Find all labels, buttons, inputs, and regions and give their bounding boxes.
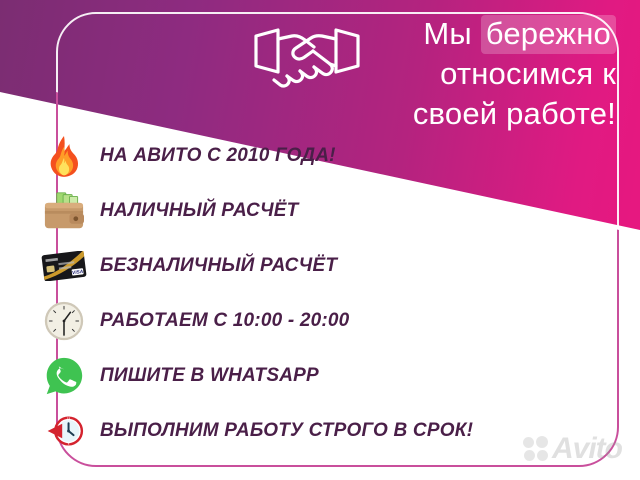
headline-highlight: бережно (481, 15, 616, 54)
feature-row: РАБОТАЕМ С 10:00 - 20:00 (36, 293, 566, 348)
feature-list: НА АВИТО С 2010 ГОДА! НАЛИЧНЫЙ РАСЧЁТ (36, 128, 566, 458)
feature-row: НА АВИТО С 2010 ГОДА! (36, 128, 566, 183)
deadline-timer-icon: 12 3 6 9 (36, 406, 92, 456)
feature-label: НА АВИТО С 2010 ГОДА! (92, 145, 336, 167)
headline-line-1: Мы бережно (348, 14, 616, 54)
handshake-icon (252, 26, 362, 98)
feature-label: ВЫПОЛНИМ РАБОТУ СТРОГО В СРОК! (92, 420, 473, 442)
feature-row: НАЛИЧНЫЙ РАСЧЁТ (36, 183, 566, 238)
feature-row: 12 3 6 9 ВЫПОЛНИМ РАБОТУ СТРОГО В СРОК! (36, 403, 566, 458)
feature-row: VISA БЕЗНАЛИЧНЫЙ РАСЧЁТ (36, 238, 566, 293)
clock-icon (36, 296, 92, 346)
feature-label: БЕЗНАЛИЧНЫЙ РАСЧЁТ (92, 255, 337, 277)
feature-label: НАЛИЧНЫЙ РАСЧЁТ (92, 200, 298, 222)
headline: Мы бережно относимся к своей работе! (348, 14, 616, 134)
feature-row: ПИШИТЕ В WHATSAPP (36, 348, 566, 403)
feature-label: ПИШИТЕ В WHATSAPP (92, 365, 319, 387)
credit-card-icon: VISA (36, 241, 92, 291)
headline-prefix: Мы (423, 16, 480, 51)
whatsapp-icon (36, 351, 92, 401)
headline-line-2: относимся к (348, 54, 616, 94)
advert-banner: Мы бережно относимся к своей работе! НА … (0, 0, 640, 480)
svg-text:12: 12 (67, 416, 71, 420)
feature-label: РАБОТАЕМ С 10:00 - 20:00 (92, 310, 349, 332)
wallet-icon (36, 186, 92, 236)
fire-icon (36, 131, 92, 181)
